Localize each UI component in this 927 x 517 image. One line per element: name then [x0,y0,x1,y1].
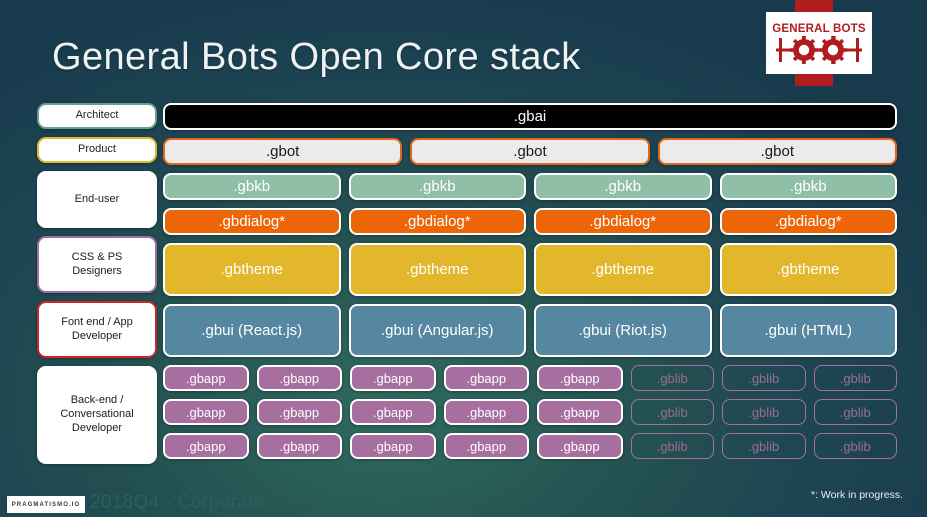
stack-cell-gblib[interactable]: .gblib [814,399,898,425]
slide-canvas: GENERAL BOTS [0,0,927,517]
stack-cell-gbui[interactable]: .gbui (HTML) [720,304,898,357]
stack-row-gbkb: .gbkb.gbkb.gbkb.gbkb [163,173,897,200]
stack-row-gbui: .gbui (React.js).gbui (Angular.js).gbui … [163,304,897,357]
stack-cell-gbdialog[interactable]: .gbdialog* [349,208,527,235]
stack-cell-gbkb[interactable]: .gbkb [534,173,712,200]
stack-cell-gbtheme[interactable]: .gbtheme [534,243,712,296]
stack-cell-gbapp[interactable]: .gbapp [350,399,436,425]
gbapp-gblib-row: .gbapp.gbapp.gbapp.gbapp.gbapp.gblib.gbl… [163,365,897,391]
stack-cell-gbapp[interactable]: .gbapp [444,433,530,459]
role-label-column: ArchitectProductEnd-userCSS & PS Designe… [37,103,157,464]
gears-icon [776,36,862,64]
stack-cell-gbdialog[interactable]: .gbdialog* [534,208,712,235]
gbapp-gblib-row: .gbapp.gbapp.gbapp.gbapp.gbapp.gblib.gbl… [163,399,897,425]
pragmatismo-logo: PRAGMATISMO.IO [7,496,85,513]
role-label: Back-end / Conversational Developer [37,366,157,464]
stack-row-gbdialog: .gbdialog*.gbdialog*.gbdialog*.gbdialog* [163,208,897,235]
stack-cell-gbot[interactable]: .gbot [163,138,402,165]
stack-row-gbot: .gbot.gbot.gbot [163,138,897,165]
stack-cell-gbapp[interactable]: .gbapp [444,365,530,391]
slide-title: General Bots Open Core stack [52,36,581,79]
stack-cell-gbdialog[interactable]: .gbdialog* [720,208,898,235]
stack-cell-gbtheme[interactable]: .gbtheme [720,243,898,296]
stack-cell-gblib[interactable]: .gblib [631,399,715,425]
stack-cell-gbapp[interactable]: .gbapp [350,433,436,459]
stack-cell-gbapp[interactable]: .gbapp [257,365,343,391]
stack-cell-gbapp[interactable]: .gbapp [163,433,249,459]
logo-wordmark: GENERAL BOTS [772,23,866,35]
work-in-progress-note: *: Work in progress. [811,489,903,501]
stack-cell-gbapp[interactable]: .gbapp [537,433,623,459]
stack-cell-gbui[interactable]: .gbui (Riot.js) [534,304,712,357]
stack-cell-gbai[interactable]: .gbai [163,103,897,130]
stack-cell-gbapp[interactable]: .gbapp [350,365,436,391]
stack-row-gbtheme: .gbtheme.gbtheme.gbtheme.gbtheme [163,243,897,296]
role-label: CSS & PS Designers [37,236,157,293]
stack-cell-gbtheme[interactable]: .gbtheme [163,243,341,296]
stack-cell-gblib[interactable]: .gblib [631,365,715,391]
stack-cell-gbdialog[interactable]: .gbdialog* [163,208,341,235]
stack-grid: .gbai.gbot.gbot.gbot.gbkb.gbkb.gbkb.gbkb… [163,103,897,459]
pragmatismo-logo-text: PRAGMATISMO.IO [12,502,81,508]
stack-cell-gblib[interactable]: .gblib [814,433,898,459]
stack-cell-gbui[interactable]: .gbui (React.js) [163,304,341,357]
stack-cell-gbot[interactable]: .gbot [658,138,897,165]
stack-cell-gblib[interactable]: .gblib [814,365,898,391]
stack-cell-gbapp[interactable]: .gbapp [257,399,343,425]
stack-cell-gbtheme[interactable]: .gbtheme [349,243,527,296]
stack-cell-gbkb[interactable]: .gbkb [349,173,527,200]
role-label: End-user [37,171,157,228]
stack-cell-gbot[interactable]: .gbot [410,138,649,165]
stack-cell-gblib[interactable]: .gblib [631,433,715,459]
stack-cell-gbapp[interactable]: .gbapp [163,399,249,425]
gbapp-gblib-row: .gbapp.gbapp.gbapp.gbapp.gbapp.gblib.gbl… [163,433,897,459]
stack-cell-gblib[interactable]: .gblib [722,365,806,391]
stack-cell-gbapp[interactable]: .gbapp [257,433,343,459]
role-label: Architect [37,103,157,129]
footer-label: 2018Q4 - Corporate [90,492,264,514]
stack-cell-gbapp[interactable]: .gbapp [537,399,623,425]
stack-cell-gbapp[interactable]: .gbapp [163,365,249,391]
stack-row-gbai: .gbai [163,103,897,130]
stack-cell-gbapp[interactable]: .gbapp [537,365,623,391]
role-label: Font end / App Developer [37,301,157,358]
stack-cell-gbkb[interactable]: .gbkb [720,173,898,200]
stack-cell-gblib[interactable]: .gblib [722,433,806,459]
role-label: Product [37,137,157,163]
stack-cell-gblib[interactable]: .gblib [722,399,806,425]
general-bots-logo: GENERAL BOTS [766,12,872,74]
stack-cell-gbkb[interactable]: .gbkb [163,173,341,200]
stack-cell-gbapp[interactable]: .gbapp [444,399,530,425]
stack-cell-gbui[interactable]: .gbui (Angular.js) [349,304,527,357]
